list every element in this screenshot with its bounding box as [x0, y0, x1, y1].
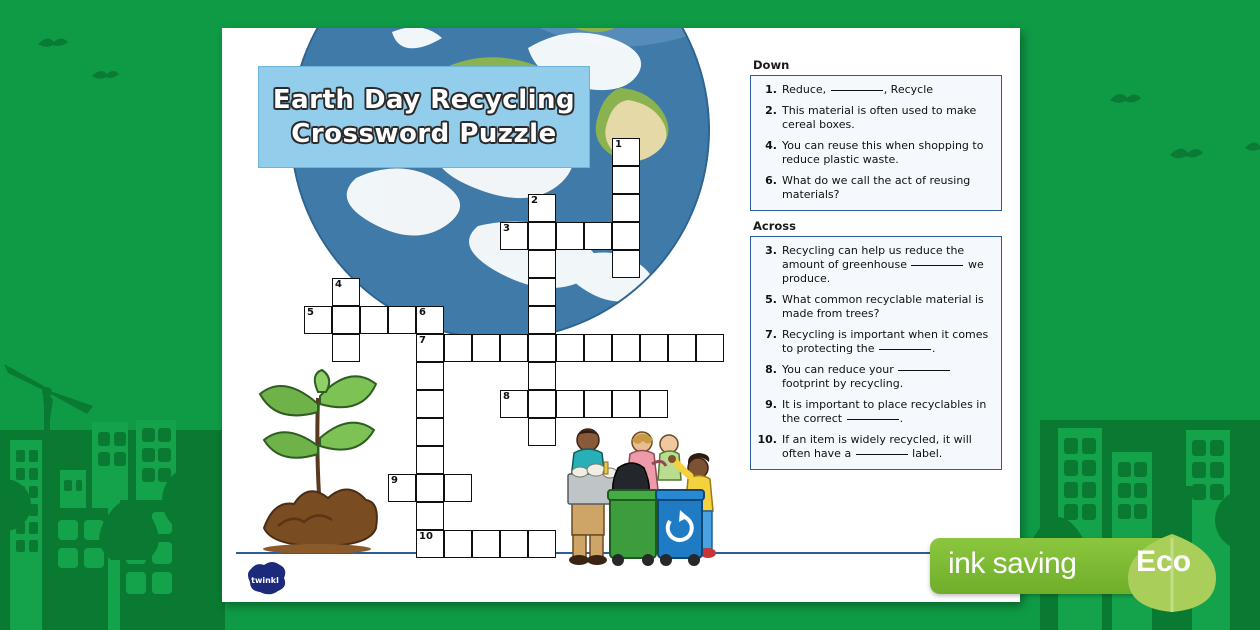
answer-blank[interactable]: [831, 90, 883, 91]
answer-blank[interactable]: [911, 265, 963, 266]
answer-blank[interactable]: [856, 454, 908, 455]
clue-item: 4.You can reuse this when shopping to re…: [757, 139, 993, 167]
crossword-cell[interactable]: [472, 530, 500, 558]
crossword-cell-number: 8: [503, 391, 510, 402]
answer-blank[interactable]: [898, 370, 950, 371]
crossword-cell[interactable]: [388, 306, 416, 334]
crossword-cell[interactable]: [416, 362, 444, 390]
crossword-cell-number: 4: [335, 279, 342, 290]
crossword-cell[interactable]: [332, 334, 360, 362]
clue-text: If an item is widely recycled, it will o…: [782, 433, 993, 461]
crossword-cell[interactable]: [556, 334, 584, 362]
twinkl-logo: twinkl: [244, 562, 286, 596]
crossword-cell-number: 10: [419, 531, 433, 542]
clue-number: 3.: [757, 244, 782, 286]
twinkl-wordmark: twinkl: [251, 576, 279, 585]
clue-item: 7.Recycling is important when it comes t…: [757, 328, 993, 356]
crossword-cell[interactable]: [528, 250, 556, 278]
crossword-cell[interactable]: 7: [416, 334, 444, 362]
crossword-cell[interactable]: 5: [304, 306, 332, 334]
clue-number: 1.: [757, 83, 782, 97]
crossword-cell[interactable]: [472, 334, 500, 362]
crossword-cell[interactable]: [332, 306, 360, 334]
clue-item: 5.What common recyclable material is mad…: [757, 293, 993, 321]
clue-item: 2.This material is often used to make ce…: [757, 104, 993, 132]
clue-item: 8.You can reduce your footprint by recyc…: [757, 363, 993, 391]
crossword-cell-number: 7: [419, 335, 426, 346]
clue-text: Recycling is important when it comes to …: [782, 328, 993, 356]
crossword-cell[interactable]: [528, 334, 556, 362]
crossword-cell[interactable]: [444, 530, 472, 558]
crossword-cell[interactable]: [500, 530, 528, 558]
title-line-2: Crossword Puzzle: [291, 117, 556, 151]
crossword-cell[interactable]: [612, 166, 640, 194]
clue-text: This material is often used to make cere…: [782, 104, 993, 132]
answer-blank[interactable]: [847, 419, 899, 420]
clue-number: 10.: [757, 433, 782, 461]
crossword-cell[interactable]: 3: [500, 222, 528, 250]
clue-text: You can reuse this when shopping to redu…: [782, 139, 993, 167]
crossword-cell[interactable]: 1: [612, 138, 640, 166]
crossword-cell[interactable]: [584, 334, 612, 362]
down-heading: Down: [753, 58, 1002, 72]
crossword-cell[interactable]: 8: [500, 390, 528, 418]
clue-text: What do we call the act of reusing mater…: [782, 174, 993, 202]
crossword-cell[interactable]: [416, 474, 444, 502]
title-line-1: Earth Day Recycling: [273, 83, 575, 117]
clue-item: 9.It is important to place recyclables i…: [757, 398, 993, 426]
crossword-cell[interactable]: [528, 390, 556, 418]
crossword-cell[interactable]: [528, 530, 556, 558]
seedling-plant-illustration: [252, 368, 382, 553]
crossword-cell[interactable]: 9: [388, 474, 416, 502]
crossword-cell[interactable]: [500, 334, 528, 362]
eco-label: Eco: [1136, 545, 1191, 579]
clue-text: It is important to place recyclables in …: [782, 398, 993, 426]
family-recycling-illustration: [552, 418, 722, 568]
clue-item: 6.What do we call the act of reusing mat…: [757, 174, 993, 202]
answer-blank[interactable]: [879, 349, 931, 350]
clue-number: 2.: [757, 104, 782, 132]
clue-number: 8.: [757, 363, 782, 391]
crossword-cell[interactable]: [528, 222, 556, 250]
crossword-cell[interactable]: 10: [416, 530, 444, 558]
crossword-cell[interactable]: 2: [528, 194, 556, 222]
clues-panel: Down 1.Reduce, , Recycle2.This material …: [750, 58, 1002, 478]
crossword-cell-number: 9: [391, 475, 398, 486]
crossword-cell[interactable]: [612, 222, 640, 250]
ink-saving-label: ink saving: [948, 547, 1076, 581]
clue-number: 9.: [757, 398, 782, 426]
crossword-cell[interactable]: [612, 390, 640, 418]
crossword-cell[interactable]: [416, 390, 444, 418]
crossword-cell[interactable]: 6: [416, 306, 444, 334]
worksheet-title-banner: Earth Day Recycling Crossword Puzzle: [258, 66, 590, 168]
clue-text: What common recyclable material is made …: [782, 293, 993, 321]
crossword-cell[interactable]: [556, 222, 584, 250]
clue-text: Reduce, , Recycle: [782, 83, 993, 97]
crossword-cell[interactable]: [444, 474, 472, 502]
clue-text: Recycling can help us reduce the amount …: [782, 244, 993, 286]
ink-saving-eco-badge: ink saving Eco: [930, 536, 1230, 611]
crossword-cell[interactable]: [696, 334, 724, 362]
across-clue-box: 3.Recycling can help us reduce the amoun…: [750, 236, 1002, 470]
clue-item: 10.If an item is widely recycled, it wil…: [757, 433, 993, 461]
crossword-cell[interactable]: [612, 250, 640, 278]
crossword-cell[interactable]: [612, 194, 640, 222]
crossword-cell[interactable]: [360, 306, 388, 334]
crossword-cell[interactable]: [528, 418, 556, 446]
clue-number: 4.: [757, 139, 782, 167]
clue-number: 7.: [757, 328, 782, 356]
crossword-cell-number: 5: [307, 307, 314, 318]
clue-text: You can reduce your footprint by recycli…: [782, 363, 993, 391]
crossword-cell[interactable]: [528, 278, 556, 306]
down-clue-box: 1.Reduce, , Recycle2.This material is of…: [750, 75, 1002, 211]
crossword-cell[interactable]: [416, 418, 444, 446]
worksheet-page: Earth Day Recycling Crossword Puzzle 123…: [222, 28, 1020, 602]
crossword-cell[interactable]: [584, 222, 612, 250]
across-heading: Across: [753, 219, 1002, 233]
crossword-cell-number: 1: [615, 139, 622, 150]
crossword-cell[interactable]: [612, 334, 640, 362]
crossword-cell[interactable]: [528, 306, 556, 334]
crossword-cell[interactable]: [556, 390, 584, 418]
clue-number: 6.: [757, 174, 782, 202]
crossword-cell-number: 6: [419, 307, 426, 318]
crossword-cell[interactable]: [444, 334, 472, 362]
clue-item: 1.Reduce, , Recycle: [757, 83, 993, 97]
crossword-cell[interactable]: [640, 334, 668, 362]
crossword-cell[interactable]: [668, 334, 696, 362]
clue-number: 5.: [757, 293, 782, 321]
eco-leaf-shape: Eco: [1114, 532, 1230, 612]
crossword-cell[interactable]: [416, 446, 444, 474]
crossword-cell[interactable]: [584, 390, 612, 418]
crossword-cell[interactable]: [640, 390, 668, 418]
crossword-cell[interactable]: [416, 502, 444, 530]
crossword-cell[interactable]: 4: [332, 278, 360, 306]
crossword-cell[interactable]: [528, 362, 556, 390]
crossword-cell-number: 2: [531, 195, 538, 206]
clue-item: 3.Recycling can help us reduce the amoun…: [757, 244, 993, 286]
crossword-cell-number: 3: [503, 223, 510, 234]
